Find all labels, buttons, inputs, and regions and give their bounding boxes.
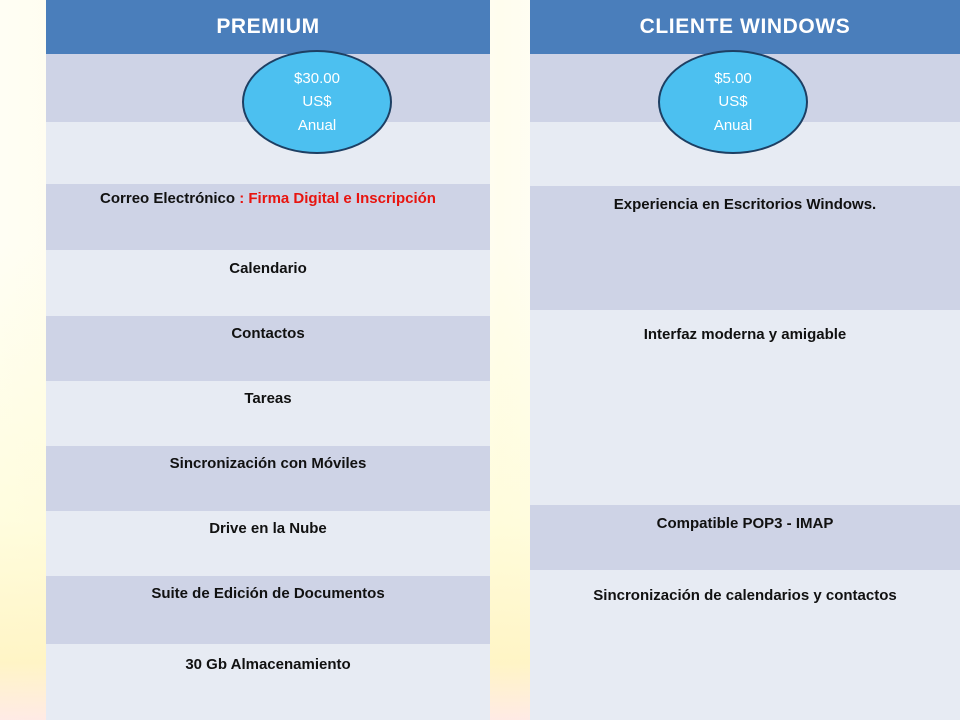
feature-label: Interfaz moderna y amigable bbox=[644, 326, 847, 343]
pricing-comparison-slide: PREMIUM Correo Electrónico : Firma Digit… bbox=[0, 0, 960, 720]
feature-label: Sincronización con Móviles bbox=[170, 455, 367, 472]
feature-label: Correo Electrónico bbox=[100, 190, 239, 207]
feature-drive-en-la-nube: Drive en la Nube bbox=[46, 518, 490, 540]
plan-column-cliente-windows: CLIENTE WINDOWS Experiencia en Escritori… bbox=[530, 0, 960, 720]
feature-experiencia-escritorios-windows: Experiencia en Escritorios Windows. bbox=[530, 194, 960, 216]
feature-sincronizacion-calendarios-contactos: Sincronización de calendarios y contacto… bbox=[530, 585, 960, 607]
feature-label: Experiencia en Escritorios Windows. bbox=[614, 196, 876, 213]
price-bubble-cliente-windows: $5.00 US$ Anual bbox=[658, 50, 808, 154]
price-period-cliente-windows: Anual bbox=[714, 114, 752, 137]
feature-label: Drive en la Nube bbox=[209, 520, 327, 537]
feature-calendario: Calendario bbox=[46, 258, 490, 280]
price-bubble-premium: $30.00 US$ Anual bbox=[242, 50, 392, 154]
band-stack-premium bbox=[46, 54, 490, 720]
price-period-premium: Anual bbox=[298, 114, 336, 137]
plan-header-premium: PREMIUM bbox=[46, 0, 490, 54]
feature-label-highlight: : Firma Digital e Inscripción bbox=[239, 190, 436, 207]
band-stack-cliente-windows bbox=[530, 54, 960, 720]
feature-compatible-pop3-imap: Compatible POP3 - IMAP bbox=[530, 513, 960, 535]
feature-label: Suite de Edición de Documentos bbox=[151, 585, 384, 602]
feature-suite-edicion-documentos: Suite de Edición de Documentos bbox=[46, 583, 490, 605]
feature-label: Sincronización de calendarios y contacto… bbox=[593, 587, 896, 604]
feature-contactos: Contactos bbox=[46, 323, 490, 345]
feature-label: Compatible POP3 - IMAP bbox=[657, 515, 834, 532]
feature-label: Calendario bbox=[229, 260, 307, 277]
feature-interfaz-moderna: Interfaz moderna y amigable bbox=[530, 324, 960, 346]
feature-sincronizacion-moviles: Sincronización con Móviles bbox=[46, 453, 490, 475]
feature-tareas: Tareas bbox=[46, 388, 490, 410]
price-amount-cliente-windows: $5.00 bbox=[714, 67, 752, 90]
price-amount-premium: $30.00 bbox=[294, 67, 340, 90]
plan-title-cliente-windows: CLIENTE WINDOWS bbox=[640, 15, 851, 38]
price-currency-premium: US$ bbox=[302, 90, 331, 113]
plan-title-premium: PREMIUM bbox=[216, 15, 319, 38]
feature-almacenamiento: 30 Gb Almacenamiento bbox=[46, 654, 490, 676]
feature-correo-electronico: Correo Electrónico : Firma Digital e Ins… bbox=[46, 188, 490, 210]
feature-label: 30 Gb Almacenamiento bbox=[185, 656, 350, 673]
feature-label: Contactos bbox=[231, 325, 304, 342]
price-currency-cliente-windows: US$ bbox=[718, 90, 747, 113]
feature-label: Tareas bbox=[244, 390, 291, 407]
plan-header-cliente-windows: CLIENTE WINDOWS bbox=[530, 0, 960, 54]
plan-column-premium: PREMIUM Correo Electrónico : Firma Digit… bbox=[46, 0, 490, 720]
